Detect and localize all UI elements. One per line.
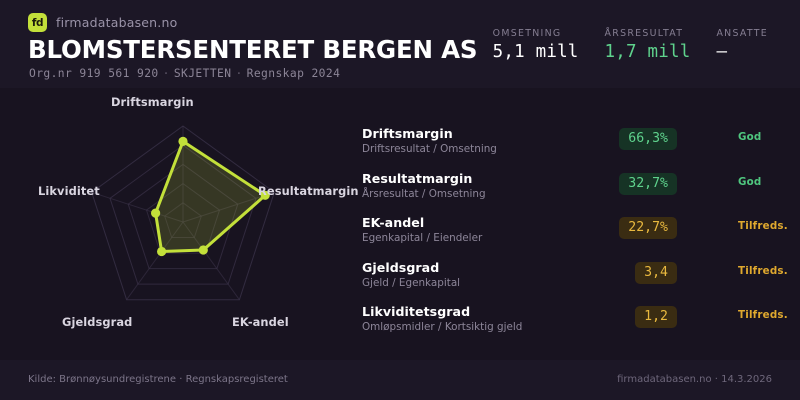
page-footer: Kilde: Brønnøysundregistrene · Regnskaps… (0, 360, 800, 400)
metric-rating: Tilfreds. (738, 220, 788, 232)
footer-stamp: firmadatabasen.no · 14.3.2026 (617, 374, 772, 385)
metric-formula: Omløpsmidler / Kortsiktig gjeld (362, 321, 522, 333)
metric-value-badge: 22,7% (619, 217, 677, 239)
kpi-omsetning: OMSETNING 5,1 mill (493, 28, 605, 62)
metric-name: Driftsmargin (362, 126, 453, 141)
report-body: Driftsmargin Resultatmargin EK-andel Gje… (0, 88, 800, 360)
kpi-omsetning-value: 5,1 mill (493, 44, 579, 62)
radar-axis-label-driftsmargin: Driftsmargin (111, 95, 194, 109)
metric-rating: God (738, 176, 762, 188)
metric-value-badge: 32,7% (619, 173, 677, 195)
radar-point-driftsmargin (178, 137, 187, 146)
metrics-list: Driftsmargin Driftsresultat / Omsetning … (362, 126, 792, 349)
metric-value-badge: 66,3% (619, 128, 677, 150)
radar-chart-svg (0, 88, 360, 360)
kpi-arsresultat-value: 1,7 mill (605, 44, 691, 62)
metric-name: Gjeldsgrad (362, 260, 439, 275)
metric-row-driftsmargin[interactable]: Driftsmargin Driftsresultat / Omsetning … (362, 126, 792, 171)
metric-row-gjeldsgrad[interactable]: Gjeldsgrad Gjeld / Egenkapital 3,4 Tilfr… (362, 260, 792, 305)
metric-row-ek-andel[interactable]: EK-andel Egenkapital / Eiendeler 22,7% T… (362, 215, 792, 260)
kpi-omsetning-label: OMSETNING (493, 28, 579, 39)
radar-point-ek-andel (199, 245, 208, 254)
brand-name: firmadatabasen.no (56, 15, 177, 30)
metric-value-badge: 1,2 (635, 306, 677, 328)
metric-row-resultatmargin[interactable]: Resultatmargin Årsresultat / Omsetning 3… (362, 171, 792, 216)
metric-rating: Tilfreds. (738, 265, 788, 277)
radar-series-area (156, 141, 266, 251)
page-title: BLOMSTERSENTERET BERGEN AS (28, 35, 477, 64)
radar-point-likviditet (151, 209, 160, 218)
kpi-arsresultat: ÅRSRESULTAT 1,7 mill (605, 28, 717, 62)
kpi-strip: OMSETNING 5,1 mill ÅRSRESULTAT 1,7 mill … (493, 28, 782, 62)
metric-value-badge: 3,4 (635, 262, 677, 284)
firmadatabasen-logo-icon: fd (28, 13, 47, 32)
radar-chart: Driftsmargin Resultatmargin EK-andel Gje… (0, 88, 360, 360)
company-accounting-year: Regnskap 2024 (247, 67, 341, 80)
brand[interactable]: fd firmadatabasen.no (28, 13, 177, 32)
radar-axis-label-resultatmargin: Resultatmargin (258, 184, 359, 198)
company-meta: Org.nr 919 561 920·SKJETTEN·Regnskap 202… (29, 67, 340, 80)
footer-source: Kilde: Brønnøysundregistrene · Regnskaps… (28, 374, 288, 385)
metric-name: EK-andel (362, 215, 424, 230)
radar-point-gjeldsgrad (157, 247, 166, 256)
kpi-ansatte: ANSATTE – (716, 28, 782, 62)
metric-formula: Egenkapital / Eiendeler (362, 232, 482, 244)
metric-formula: Årsresultat / Omsetning (362, 188, 486, 200)
radar-axis-label-gjeldsgrad: Gjeldsgrad (62, 315, 132, 329)
metric-rating: God (738, 131, 762, 143)
metric-formula: Driftsresultat / Omsetning (362, 143, 497, 155)
metric-formula: Gjeld / Egenkapital (362, 277, 460, 289)
radar-axis-label-ek-andel: EK-andel (232, 315, 289, 329)
kpi-ansatte-value: – (716, 44, 768, 62)
metric-name: Likviditetsgrad (362, 304, 470, 319)
metric-row-likviditetsgrad[interactable]: Likviditetsgrad Omløpsmidler / Kortsikti… (362, 304, 792, 349)
metric-name: Resultatmargin (362, 171, 472, 186)
company-orgnr: Org.nr 919 561 920 (29, 67, 159, 80)
meta-separator-2: · (231, 67, 246, 80)
radar-axis-label-likviditet: Likviditet (38, 184, 100, 198)
report-page: fd firmadatabasen.no BLOMSTERSENTERET BE… (0, 0, 800, 400)
kpi-ansatte-label: ANSATTE (716, 28, 768, 39)
meta-separator-1: · (159, 67, 174, 80)
metric-rating: Tilfreds. (738, 309, 788, 321)
page-header: fd firmadatabasen.no BLOMSTERSENTERET BE… (0, 0, 800, 88)
company-place: SKJETTEN (174, 67, 232, 80)
kpi-arsresultat-label: ÅRSRESULTAT (605, 28, 691, 39)
